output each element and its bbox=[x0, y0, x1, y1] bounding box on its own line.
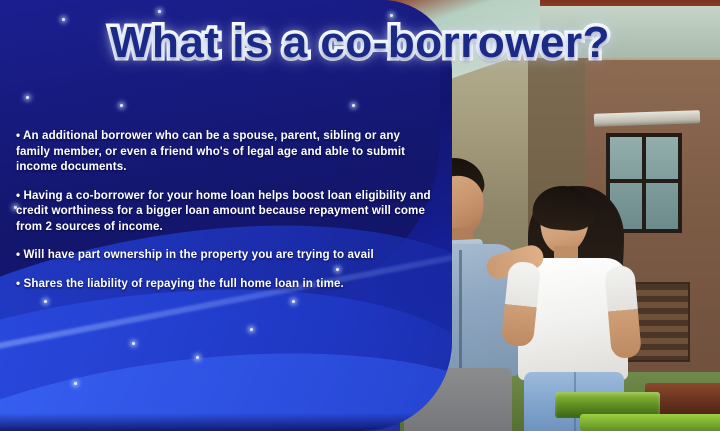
bullet-item: • Shares the liability of repaying the f… bbox=[16, 276, 436, 292]
sparkle-icon bbox=[120, 104, 123, 107]
sparkle-icon bbox=[250, 328, 253, 331]
co-borrower-banner: What is a co-borrower? • An additional b… bbox=[0, 0, 720, 431]
bullet-item: • Having a co-borrower for your home loa… bbox=[16, 188, 436, 235]
panel-bottom-shade bbox=[0, 413, 452, 431]
sparkle-icon bbox=[292, 300, 295, 303]
sparkle-icon bbox=[74, 382, 77, 385]
sparkle-icon bbox=[352, 104, 355, 107]
sparkle-icon bbox=[390, 14, 393, 17]
sparkle-icon bbox=[158, 10, 161, 13]
sparkle-icon bbox=[196, 356, 199, 359]
roof-cap bbox=[540, 0, 720, 6]
banner-title: What is a co-borrower? bbox=[0, 18, 720, 68]
hedge-green-front bbox=[580, 414, 720, 431]
sparkle-icon bbox=[44, 300, 47, 303]
bullet-list: • An additional borrower who can be a sp… bbox=[16, 128, 436, 291]
bullet-item: • Will have part ownership in the proper… bbox=[16, 247, 436, 263]
sparkle-icon bbox=[132, 342, 135, 345]
bullet-item: • An additional borrower who can be a sp… bbox=[16, 128, 436, 175]
sparkle-icon bbox=[26, 96, 29, 99]
